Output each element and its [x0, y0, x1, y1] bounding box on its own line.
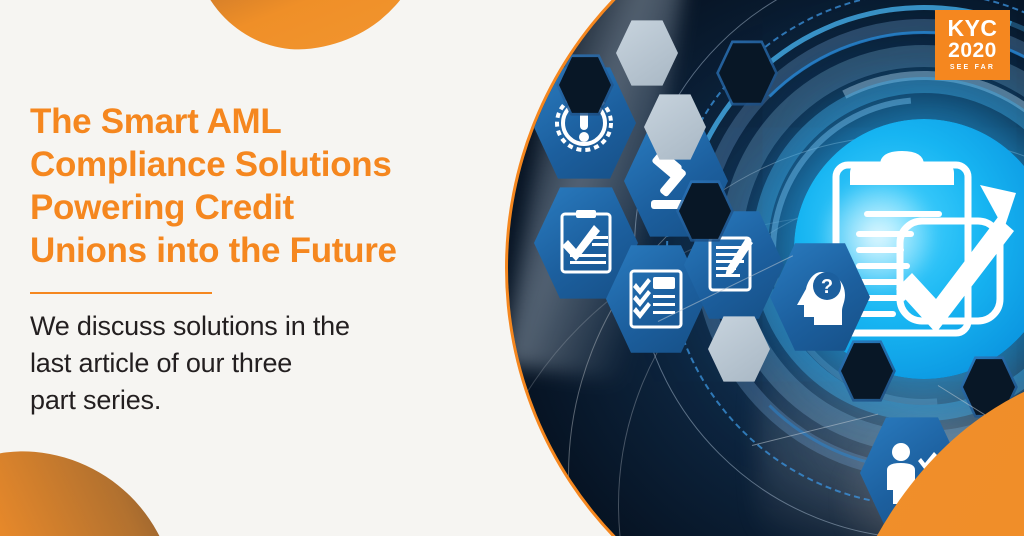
hero-visual-panel: ?	[505, 0, 1024, 536]
svg-text:?: ?	[821, 276, 833, 298]
headline-line-4: Unions into the Future	[30, 229, 480, 272]
page-title: The Smart AML Compliance Solutions Power…	[30, 100, 480, 272]
checklist-icon	[623, 265, 689, 333]
logo-text-kyc: KYC	[947, 17, 997, 40]
marketing-banner: ?	[0, 0, 1024, 536]
accent-divider	[30, 292, 212, 294]
headline-line-1: The Smart AML	[30, 100, 480, 143]
subheading-line-2: last article of our three	[30, 345, 450, 382]
brand-logo[interactable]: KYC 2020 SEE FAR	[935, 10, 1010, 80]
subheading-line-1: We discuss solutions in the	[30, 308, 450, 345]
orange-blob-top-decoration	[188, 0, 437, 62]
headline-line-3: Powering Credit	[30, 186, 480, 229]
document-pen-icon	[702, 232, 766, 298]
page-subtitle: We discuss solutions in the last article…	[30, 308, 450, 419]
document-check-icon	[552, 208, 620, 278]
head-question-icon: ?	[787, 264, 853, 330]
logo-text-year: 2020	[948, 40, 997, 62]
subheading-line-3: part series.	[30, 382, 450, 419]
logo-tagline: SEE FAR	[950, 62, 995, 73]
headline-line-2: Compliance Solutions	[30, 143, 480, 186]
orange-blob-bottom-decoration	[0, 439, 189, 536]
